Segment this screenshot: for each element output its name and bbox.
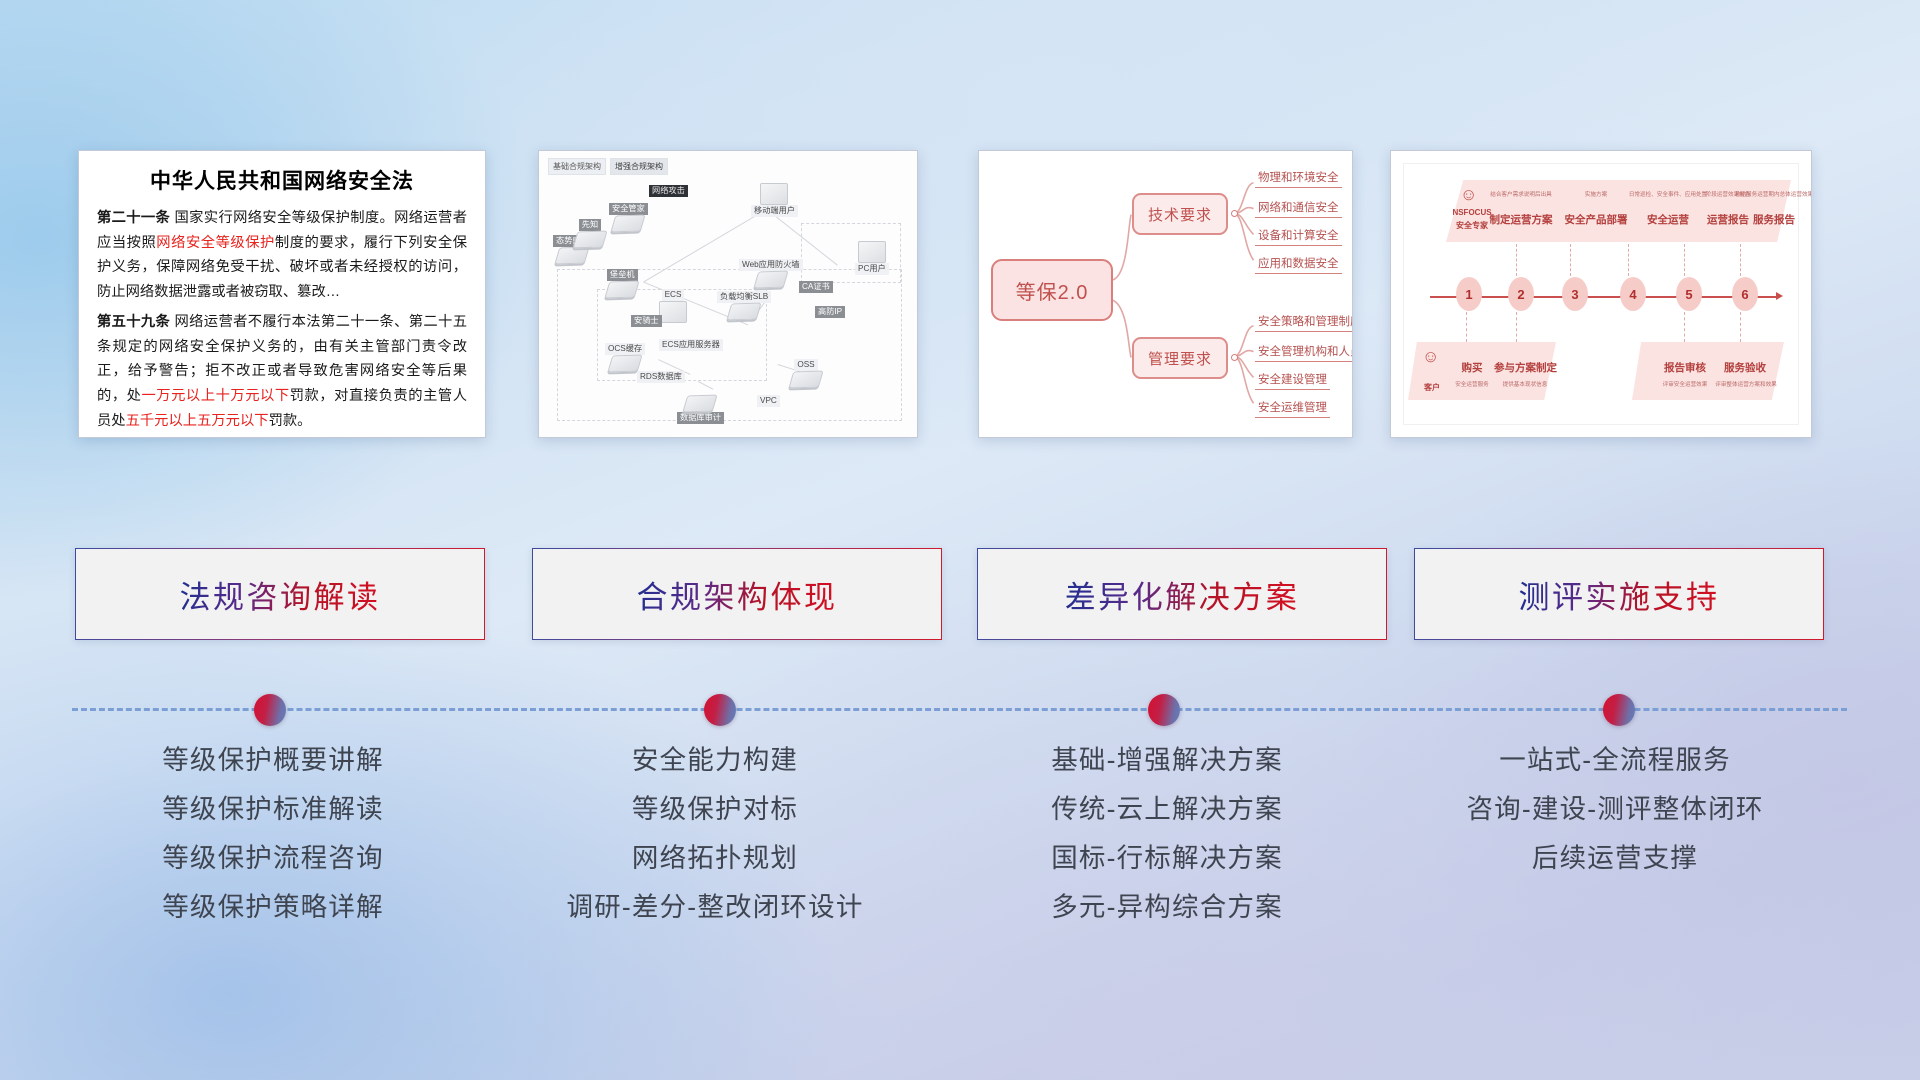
list-item: 一站式-全流程服务 <box>1499 740 1731 782</box>
flow-step-2[interactable]: 2 <box>1508 277 1534 311</box>
list-item: 等级保护流程咨询 <box>162 838 384 880</box>
list-item: 后续运营支撑 <box>1532 838 1698 880</box>
timeline-dashed-line <box>72 708 1847 711</box>
list-item: 网络拓扑规划 <box>632 838 798 880</box>
mindmap-collapse-dot-technical[interactable] <box>1231 210 1238 217</box>
detail-list-assessment: 一站式-全流程服务 咨询-建设-测评整体闭环 后续运营支撑 <box>1395 740 1835 880</box>
flow-step-6[interactable]: 6 <box>1732 277 1758 311</box>
flow-step-5[interactable]: 5 <box>1676 277 1702 311</box>
card-mindmap-dengbao[interactable]: 等保2.0 技术要求 物理和环境安全 网络和通信安全 设备和计算安全 应用和数据… <box>978 150 1353 438</box>
card-cloud-architecture[interactable]: 基础合规架构 增强合规架构 网络攻击 <box>538 150 918 438</box>
flow-sub-plan: 结合客户需求说明后出具 <box>1482 190 1560 198</box>
arch-node-ca: CA证书 <box>799 281 833 293</box>
flow-title-purchase: 购买 <box>1452 360 1492 375</box>
list-item: 多元-异构综合方案 <box>1051 887 1283 929</box>
flow-title-service-report: 服务报告 <box>1738 212 1810 227</box>
law-title: 中华人民共和国网络安全法 <box>97 165 467 195</box>
mindmap-leaf-network: 网络和通信安全 <box>1255 199 1342 218</box>
mindmap-leaf-construction: 安全建设管理 <box>1255 371 1330 390</box>
arch-label-ecs: ECS <box>662 289 685 301</box>
arch-node-waf: Web应用防火墙 <box>739 259 803 288</box>
flow-dash-4 <box>1628 244 1629 276</box>
section-header-solution[interactable]: 差异化解决方案 <box>977 548 1387 640</box>
arch-node-pc-user: PC用户 <box>855 241 889 275</box>
arch-node-aegis: 安骑士 <box>631 315 662 327</box>
timeline <box>0 694 1920 724</box>
card-service-flow[interactable]: ☺ NSFOCUS 安全专家 结合客户需求说明后出具 制定运营方案 实施方案 安… <box>1390 150 1812 438</box>
arch-node-anti-ddos: 高防IP <box>815 306 845 318</box>
section-headers-row: 法规咨询解读 合规架构体现 差异化解决方案 测评实施支持 <box>0 548 1920 644</box>
article-59-highlight-2: 五千元以上五万元以下 <box>126 413 269 429</box>
arch-label-anti-ddos: 高防IP <box>815 306 845 318</box>
arch-label-db-audit: 数据库审计 <box>677 412 724 424</box>
article-59-label: 第五十九条 <box>97 314 170 330</box>
card-cybersecurity-law[interactable]: 中华人民共和国网络安全法 第二十一条 国家实行网络安全等级保护制度。网络运营者应… <box>78 150 486 438</box>
detail-list-architecture: 安全能力构建 等级保护对标 网络拓扑规划 调研-差分-整改闭环设计 <box>495 740 935 928</box>
mindmap-leaf-device: 设备和计算安全 <box>1255 227 1342 246</box>
expert-person-icon: ☺ <box>1460 186 1477 203</box>
customer-role-label: 客户 <box>1412 382 1452 393</box>
arch-icon-device <box>760 183 788 205</box>
flow-sub-participate: 提供基本现状信息 <box>1494 380 1556 388</box>
arch-label-slb: 负载均衡SLB <box>717 291 771 303</box>
mindmap-leaf-physical: 物理和环境安全 <box>1255 169 1342 188</box>
flow-timeline-axis <box>1430 296 1778 298</box>
mindmap-collapse-dot-management[interactable] <box>1231 354 1238 361</box>
flow-dash-6 <box>1740 244 1741 276</box>
list-item: 传统-云上解决方案 <box>1051 789 1283 831</box>
arch-icon-cylinder <box>726 302 761 320</box>
law-article-59: 第五十九条 网络运营者不履行本法第二十一条、第二十五条规定的网络安全保护义务的，… <box>97 310 467 433</box>
flow-dash-6-down <box>1740 312 1741 342</box>
list-item: 等级保护标准解读 <box>162 789 384 831</box>
arch-icon-device <box>858 241 886 263</box>
arch-node-mobile-user: 移动端用户 <box>751 183 798 217</box>
arch-node-attack: 网络攻击 <box>649 185 688 197</box>
arch-label-ca: CA证书 <box>799 281 833 293</box>
arch-icon-cylinder <box>572 230 607 248</box>
arch-label-mobile-user: 移动端用户 <box>751 205 798 217</box>
arch-node-ocs: OCS缓存 <box>605 343 645 372</box>
arch-label-bastion: 堡垒机 <box>607 269 638 281</box>
arch-label-aegis: 安骑士 <box>631 315 662 327</box>
arch-node-bastion: 堡垒机 <box>607 269 638 298</box>
list-item: 等级保护概要讲解 <box>162 740 384 782</box>
flow-title-deploy: 安全产品部署 <box>1560 212 1632 227</box>
architecture-diagram: 基础合规架构 增强合规架构 网络攻击 <box>539 151 917 437</box>
arch-icon-cylinder <box>683 394 718 412</box>
arch-label-rds: RDS数据库 <box>637 371 685 383</box>
timeline-dot-4[interactable] <box>1603 694 1635 726</box>
flow-dash-2-down <box>1516 312 1517 342</box>
detail-list-solution: 基础-增强解决方案 传统-云上解决方案 国标-行标解决方案 多元-异构综合方案 <box>947 740 1387 928</box>
arch-node-db-audit: 数据库审计 <box>677 395 724 424</box>
arch-label-security-butler: 安全管家 <box>609 203 648 215</box>
article-21-highlight: 网络安全等级保护 <box>156 235 275 251</box>
arch-label-ecs-app: ECS应用服务器 <box>659 339 723 351</box>
flow-dash-5 <box>1684 244 1685 276</box>
detail-lists-row: 等级保护概要讲解 等级保护标准解读 等级保护流程咨询 等级保护策略详解 安全能力… <box>0 740 1920 970</box>
arch-label-foresight: 先知 <box>579 219 601 231</box>
section-header-regulation[interactable]: 法规咨询解读 <box>75 548 485 640</box>
mindmap-branch-technical[interactable]: 技术要求 <box>1132 193 1228 235</box>
section-header-regulation-label: 法规咨询解读 <box>180 572 381 617</box>
arch-node-rds: RDS数据库 <box>637 371 685 383</box>
arch-icon-server <box>659 301 687 323</box>
mindmap-leaf-policy: 安全策略和管理制度 <box>1255 313 1353 332</box>
service-flow-canvas: ☺ NSFOCUS 安全专家 结合客户需求说明后出具 制定运营方案 实施方案 安… <box>1403 163 1799 425</box>
flow-title-participate: 参与方案制定 <box>1494 360 1556 375</box>
arch-label-pc-user: PC用户 <box>855 263 889 275</box>
flow-step-3[interactable]: 3 <box>1562 277 1588 311</box>
arch-label-waf: Web应用防火墙 <box>739 259 803 271</box>
arch-node-foresight: 先知 <box>575 219 605 248</box>
flow-dash-1-down <box>1466 312 1467 342</box>
arch-label-attack: 网络攻击 <box>649 185 688 197</box>
list-item: 基础-增强解决方案 <box>1051 740 1283 782</box>
service-flow-diagram: ☺ NSFOCUS 安全专家 结合客户需求说明后出具 制定运营方案 实施方案 安… <box>1391 151 1811 437</box>
list-item: 等级保护策略详解 <box>162 887 384 929</box>
list-item: 等级保护对标 <box>632 789 798 831</box>
arch-icon-cylinder <box>605 280 640 298</box>
mindmap-leaf-application: 应用和数据安全 <box>1255 255 1342 274</box>
flow-title-plan: 制定运营方案 <box>1482 212 1560 227</box>
timeline-dot-3[interactable] <box>1148 694 1180 726</box>
arch-icon-cylinder <box>611 214 646 232</box>
flow-sub-review: 评审安全运营效果 <box>1654 380 1716 388</box>
customer-person-icon: ☺ <box>1422 348 1439 365</box>
detail-list-regulation: 等级保护概要讲解 等级保护标准解读 等级保护流程咨询 等级保护策略详解 <box>53 740 493 928</box>
mindmap-root-node[interactable]: 等保2.0 <box>991 259 1113 321</box>
arch-label-ocs: OCS缓存 <box>605 343 645 355</box>
arch-icon-cylinder <box>555 246 590 264</box>
flow-dash-5-down <box>1684 312 1685 342</box>
flow-timeline-arrow-icon <box>1776 292 1783 300</box>
flow-title-review: 报告审核 <box>1656 360 1714 375</box>
list-item: 安全能力构建 <box>632 740 798 782</box>
timeline-dot-2[interactable] <box>704 694 736 726</box>
flow-step-1[interactable]: 1 <box>1456 277 1482 311</box>
section-header-assessment[interactable]: 测评实施支持 <box>1414 548 1824 640</box>
arch-node-slb: 负载均衡SLB <box>717 291 771 320</box>
arch-label-vpc: VPC <box>757 395 780 407</box>
arch-node-ecs-app: ECS应用服务器 <box>659 339 723 351</box>
arch-label-oss: OSS <box>794 359 817 371</box>
mindmap-leaf-org: 安全管理机构和人员 <box>1255 343 1353 362</box>
law-document: 中华人民共和国网络安全法 第二十一条 国家实行网络安全等级保护制度。网络运营者应… <box>79 151 485 438</box>
article-59-text-c: 罚款。 <box>269 413 312 429</box>
section-header-assessment-label: 测评实施支持 <box>1519 572 1720 617</box>
article-59-highlight-1: 一万元以上十万元以下 <box>141 388 289 404</box>
arch-node-ecs: ECS <box>659 289 687 323</box>
list-item: 咨询-建设-测评整体闭环 <box>1466 789 1763 831</box>
flow-sub-service-report: 总结服务运营期内总体运营效果 <box>1734 190 1812 198</box>
flow-sub-purchase: 安全运营服务 <box>1448 380 1496 388</box>
flow-step-4[interactable]: 4 <box>1620 277 1646 311</box>
reference-cards-row: 中华人民共和国网络安全法 第二十一条 国家实行网络安全等级保护制度。网络运营者应… <box>0 150 1920 445</box>
article-21-label: 第二十一条 <box>97 210 170 226</box>
section-header-architecture-label: 合规架构体现 <box>637 572 838 617</box>
flow-sub-acceptance: 评审整体运营方案和效果 <box>1712 380 1780 388</box>
flow-dash-2 <box>1516 244 1517 276</box>
flow-title-acceptance: 服务验收 <box>1716 360 1774 375</box>
mindmap-leaf-operations: 安全运维管理 <box>1255 399 1330 418</box>
arch-icon-cylinder <box>753 270 788 288</box>
section-header-solution-label: 差异化解决方案 <box>1065 572 1300 617</box>
section-header-architecture[interactable]: 合规架构体现 <box>532 548 942 640</box>
arch-node-vpc: VPC <box>757 395 780 407</box>
mindmap-branch-management[interactable]: 管理要求 <box>1132 337 1228 379</box>
list-item: 调研-差分-整改闭环设计 <box>566 887 863 929</box>
arch-icon-cylinder <box>788 370 823 388</box>
timeline-dot-1[interactable] <box>254 694 286 726</box>
flow-sub-deploy: 实施方案 <box>1560 190 1632 198</box>
mindmap-diagram: 等保2.0 技术要求 物理和环境安全 网络和通信安全 设备和计算安全 应用和数据… <box>979 151 1352 437</box>
law-article-21: 第二十一条 国家实行网络安全等级保护制度。网络运营者应当按照网络安全等级保护制度… <box>97 206 467 304</box>
arch-node-security-butler: 安全管家 <box>609 203 648 232</box>
arch-icon-cylinder <box>607 354 642 372</box>
flow-dash-3 <box>1570 244 1571 276</box>
list-item: 国标-行标解决方案 <box>1051 838 1283 880</box>
arch-node-oss: OSS <box>791 359 821 388</box>
